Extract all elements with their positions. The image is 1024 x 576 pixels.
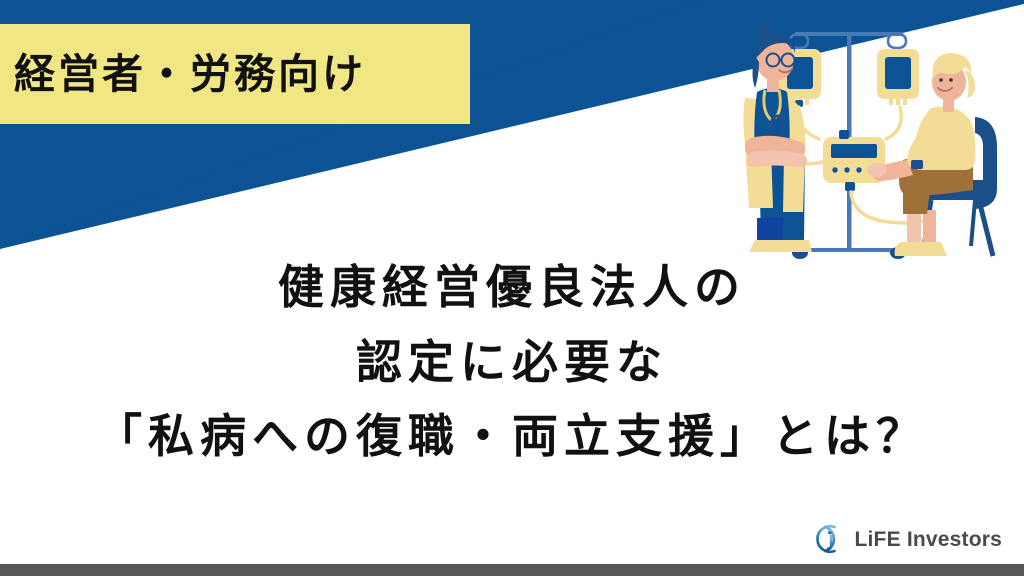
brand-logo-text: LiFE Investors: [854, 529, 1002, 550]
page-title-line-2: 認定に必要な: [0, 325, 1024, 400]
bottom-bar: [0, 564, 1024, 576]
page-title: 健康経営優良法人の 認定に必要な 「私病への復職・両立支援」とは？: [0, 250, 1024, 474]
doctor-patient-iv-illustration: [735, 12, 1024, 272]
infusion-pump: [823, 130, 885, 191]
iv-tube-right: [886, 107, 901, 139]
iv-bag-right: [877, 49, 919, 105]
life-investors-circle-i-icon: [815, 524, 845, 554]
audience-badge-label: 経営者・労務向け: [14, 54, 366, 95]
audience-badge: 経営者・労務向け: [0, 24, 470, 124]
page-title-line-3: 「私病への復職・両立支援」とは？: [0, 399, 1024, 474]
slide-canvas: 経営者・労務向け 健康経営優良法人の 認定に必要な 「私病への復職・両立支援」と…: [0, 0, 1024, 576]
page-title-line-1: 健康経営優良法人の: [0, 250, 1024, 325]
brand-logo: LiFE Investors: [815, 524, 1002, 554]
